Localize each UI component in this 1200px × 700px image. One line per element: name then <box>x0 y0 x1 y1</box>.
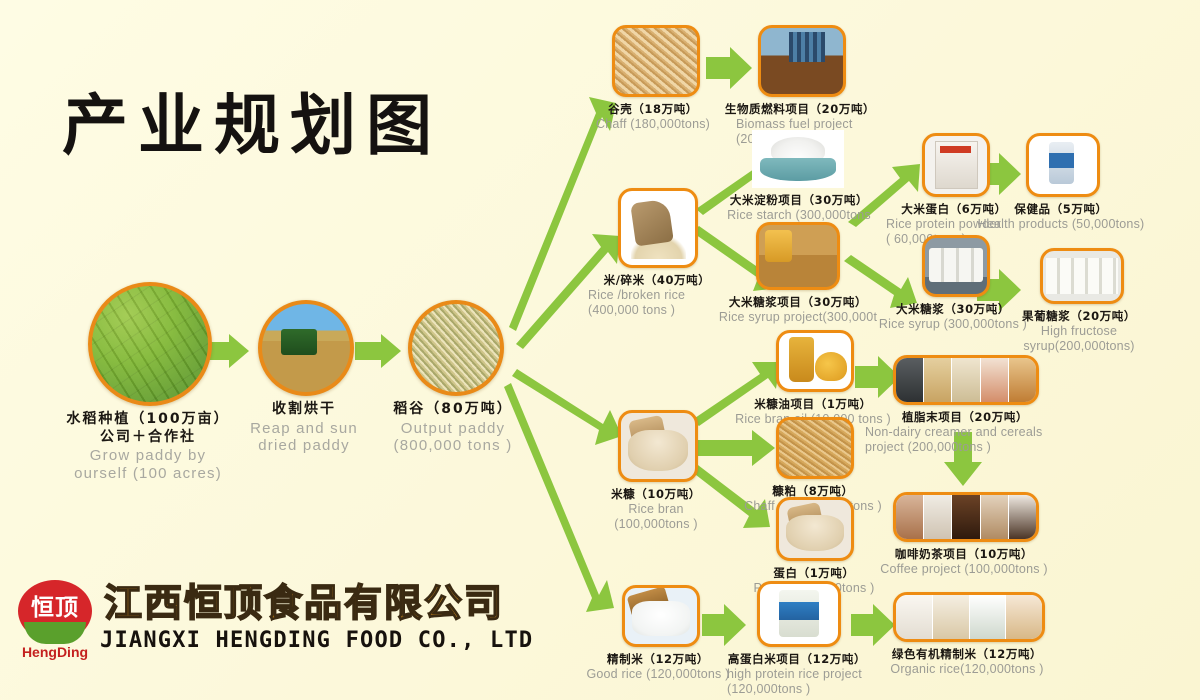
rice-syrup-project-caption: 大米糖浆项目（30万吨） Rice syrup project(300,000t <box>708 295 888 325</box>
arrow-bran-to-meal <box>693 430 775 466</box>
high-protein-rice-label-cn: 高蛋白米项目（12万吨） <box>707 652 887 666</box>
coffee-label-cn: 咖啡奶茶项目（10万吨） <box>869 547 1059 561</box>
rice-starch-caption: 大米淀粉项目（30万吨） Rice starch (300,000tons <box>714 193 884 223</box>
high-fructose-photo <box>1040 248 1124 304</box>
coffee-label-en: Coffee project (100,000tons ) <box>869 562 1059 577</box>
high-fructose-label-en: High fructose syrup(200,000tons) <box>984 324 1174 354</box>
coffee-photo <box>893 492 1039 542</box>
organic-rice-label-cn: 绿色有机精制米（12万吨） <box>867 647 1067 661</box>
biomass-label-cn: 生物质燃料项目（20万吨） <box>720 102 880 116</box>
node-biomass[interactable]: 生物质燃料项目（20万吨） Biomass fuel project (200,… <box>758 25 846 147</box>
rice-syrup-project-label-cn: 大米糖浆项目（30万吨） <box>708 295 888 309</box>
grow-paddy-label-en: Grow paddy by ourself (100 acres) <box>58 447 238 482</box>
grow-paddy-label-cn: 水稻种植（100万亩） 公司＋合作社 <box>58 411 238 446</box>
chaff-caption: 谷壳（18万吨） Chaff (180,000tons) <box>578 102 728 132</box>
node-health-products[interactable]: 保健品（5万吨） Health products (50,000tons) <box>1026 133 1098 232</box>
node-rice-bran[interactable]: 米糠（10万吨） Rice bran (100,000tons ) <box>618 410 698 532</box>
chaff-photo <box>612 25 700 97</box>
rice-protein-photo <box>922 133 990 197</box>
chaff-meal-photo <box>776 417 854 479</box>
node-chaff[interactable]: 谷壳（18万吨） Chaff (180,000tons) <box>612 25 700 132</box>
health-products-photo <box>1026 133 1100 197</box>
biomass-photo <box>758 25 846 97</box>
chaff-label-en: Chaff (180,000tons) <box>578 117 728 132</box>
node-grow-paddy[interactable]: 水稻种植（100万亩） 公司＋合作社 Grow paddy by ourself… <box>88 282 212 482</box>
high-protein-rice-caption: 高蛋白米项目（12万吨） high protein rice project (… <box>707 652 887 697</box>
output-paddy-label-en: Output paddy (800,000 tons ) <box>378 420 528 455</box>
chaff-label-cn: 谷壳（18万吨） <box>578 102 728 116</box>
high-fructose-caption: 果葡糖浆（20万吨） High fructose syrup(200,000to… <box>984 309 1174 354</box>
reap-dry-label-cn: 收割烘干 <box>234 401 374 419</box>
company-name-cn: 江西恒顶食品有限公司 <box>104 584 504 622</box>
node-organic-rice[interactable]: 绿色有机精制米（12万吨） Organic rice(120,000tons ) <box>893 592 1045 677</box>
arrow-goodrice-to-highprotein <box>702 604 746 646</box>
node-output-paddy[interactable]: 稻谷（80万吨） Output paddy (800,000 tons ) <box>408 300 504 455</box>
node-rice-broken[interactable]: 米/碎米（40万吨） Rice /broken rice (400,000 to… <box>618 188 698 318</box>
high-fructose-label-cn: 果葡糖浆（20万吨） <box>984 309 1174 323</box>
node-creamer[interactable]: 植脂末项目（20万吨） Non-dairy creamer and cereal… <box>893 355 1039 455</box>
node-rice-syrup-project[interactable]: 大米糖浆项目（30万吨） Rice syrup project(300,000t <box>756 222 840 325</box>
arrow-chaff-to-biomass <box>706 47 752 89</box>
arrow-highprotein-to-organic <box>851 604 895 646</box>
output-paddy-photo <box>408 300 504 396</box>
rice-broken-photo <box>618 188 698 268</box>
creamer-label-cn: 植脂末项目（20万吨） <box>865 410 1065 424</box>
rice-starch-label-en: Rice starch (300,000tons <box>714 208 884 223</box>
creamer-photo <box>893 355 1039 405</box>
creamer-label-en: Non-dairy creamer and cereals project (2… <box>865 425 1065 455</box>
health-products-caption: 保健品（5万吨） Health products (50,000tons) <box>976 202 1146 232</box>
organic-rice-photo-strip <box>896 595 1042 639</box>
protein-photo <box>776 497 854 561</box>
node-coffee[interactable]: 咖啡奶茶项目（10万吨） Coffee project (100,000tons… <box>893 492 1039 577</box>
grow-paddy-photo <box>88 282 212 406</box>
logo-label-en: HengDing <box>8 644 102 660</box>
industry-plan-diagram: 产业规划图 <box>0 0 1200 700</box>
high-protein-rice-photo <box>757 581 841 647</box>
high-protein-rice-label-en: high protein rice project (120,000tons ) <box>707 667 887 697</box>
health-products-label-cn: 保健品（5万吨） <box>976 202 1146 216</box>
rice-syrup-project-photo <box>756 222 840 290</box>
rice-bran-label-cn: 米糠（10万吨） <box>586 487 726 501</box>
reap-dry-photo <box>258 300 354 396</box>
logo-label-cn: 恒顶 <box>18 588 92 622</box>
organic-rice-photo <box>893 592 1045 642</box>
page-title: 产业规划图 <box>62 92 442 158</box>
creamer-photo-strip <box>896 358 1036 402</box>
output-paddy-caption: 稻谷（80万吨） Output paddy (800,000 tons ) <box>378 401 528 455</box>
node-reap-dry[interactable]: 收割烘干 Reap and sun dried paddy <box>258 300 354 455</box>
coffee-caption: 咖啡奶茶项目（10万吨） Coffee project (100,000tons… <box>869 547 1059 577</box>
bran-oil-photo <box>776 330 854 392</box>
company-name-en: JIANGXI HENGDING FOOD CO., LTD <box>100 628 533 653</box>
reap-dry-caption: 收割烘干 Reap and sun dried paddy <box>234 401 374 455</box>
organic-rice-caption: 绿色有机精制米（12万吨） Organic rice(120,000tons ) <box>867 647 1067 677</box>
coffee-photo-strip <box>896 495 1036 539</box>
rice-starch-photo <box>752 130 844 188</box>
rice-syrup-project-label-en: Rice syrup project(300,000t <box>708 310 888 325</box>
node-rice-syrup[interactable]: 大米糖浆（30万吨） Rice syrup (300,000tons ) <box>922 235 988 332</box>
node-high-fructose[interactable]: 果葡糖浆（20万吨） High fructose syrup(200,000to… <box>1040 248 1122 354</box>
node-rice-starch[interactable]: 大米淀粉项目（30万吨） Rice starch (300,000tons <box>752 130 848 223</box>
output-paddy-label-cn: 稻谷（80万吨） <box>378 401 528 419</box>
rice-bran-photo <box>618 410 698 482</box>
company-logo: 恒顶 HengDing <box>8 578 100 670</box>
node-good-rice[interactable]: 精制米（12万吨） Good rice (120,000tons ) <box>622 585 700 682</box>
health-products-label-en: Health products (50,000tons) <box>976 217 1146 232</box>
organic-rice-label-en: Organic rice(120,000tons ) <box>867 662 1067 677</box>
node-high-protein-rice[interactable]: 高蛋白米项目（12万吨） high protein rice project (… <box>757 581 841 697</box>
arrow-reap-to-output <box>355 334 401 368</box>
grow-paddy-caption: 水稻种植（100万亩） 公司＋合作社 Grow paddy by ourself… <box>58 411 238 482</box>
rice-starch-label-cn: 大米淀粉项目（30万吨） <box>714 193 884 207</box>
rice-bran-label-en: Rice bran (100,000tons ) <box>586 502 726 532</box>
good-rice-photo <box>622 585 700 647</box>
rice-syrup-photo <box>922 235 990 297</box>
rice-broken-label-cn: 米/碎米（40万吨） <box>582 273 732 287</box>
node-bran-oil[interactable]: 米糠油项目（1万吨） Rice bran oil (10,000 tons ) <box>776 330 854 427</box>
creamer-caption: 植脂末项目（20万吨） Non-dairy creamer and cereal… <box>865 410 1065 455</box>
reap-dry-label-en: Reap and sun dried paddy <box>234 420 374 455</box>
arrow-output-to-bran <box>512 369 622 445</box>
rice-bran-caption: 米糠（10万吨） Rice bran (100,000tons ) <box>586 487 726 532</box>
